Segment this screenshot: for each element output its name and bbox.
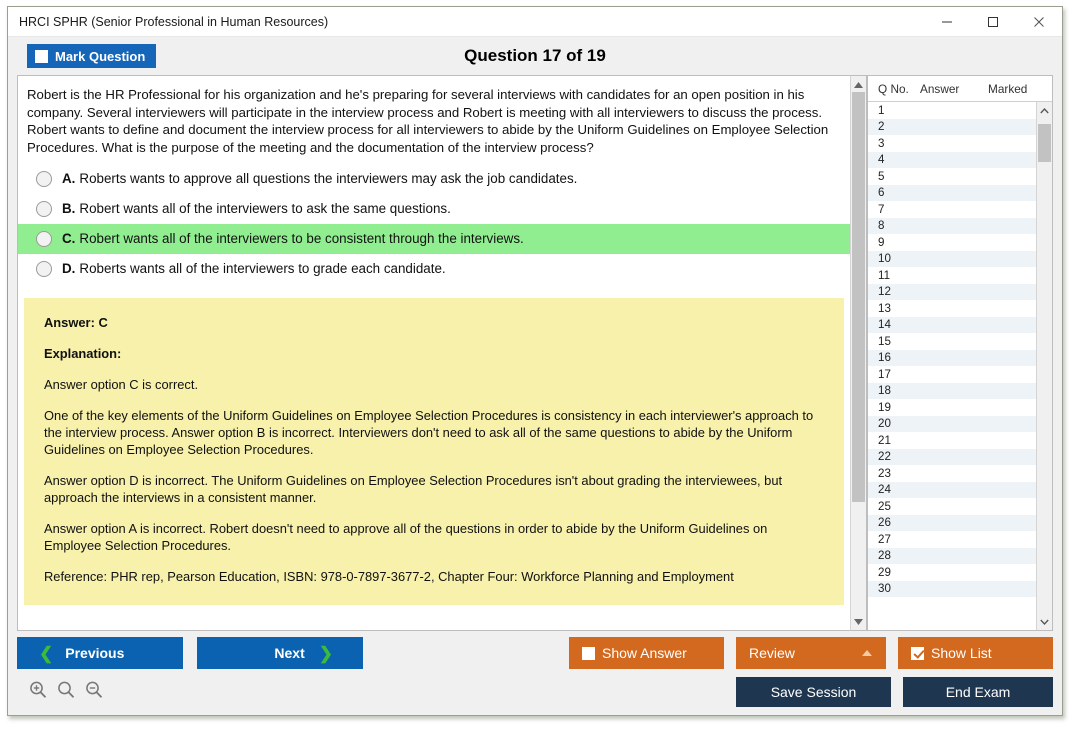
question-list-row-number: 3 [868, 137, 920, 150]
question-list-row-number: 13 [868, 302, 920, 315]
mark-question-button[interactable]: Mark Question [27, 44, 156, 68]
question-list-row[interactable]: 21 [868, 432, 1036, 449]
window-title: HRCI SPHR (Senior Professional in Human … [8, 15, 924, 29]
question-list-row-number: 2 [868, 120, 920, 133]
question-pane-scrollbar[interactable] [850, 75, 867, 631]
mark-question-checkbox-icon [35, 50, 48, 63]
question-list-row-number: 25 [868, 500, 920, 513]
list-scroll-up-button[interactable] [1037, 102, 1052, 119]
question-counter: Question 17 of 19 [8, 46, 1062, 66]
exam-header: Mark Question Question 17 of 19 [8, 37, 1062, 75]
question-list-row-number: 30 [868, 582, 920, 595]
question-list-row[interactable]: 23 [868, 465, 1036, 482]
question-list-row[interactable]: 22 [868, 449, 1036, 466]
exam-body: Robert is the HR Professional for his or… [8, 75, 1062, 631]
question-list-row[interactable]: 26 [868, 515, 1036, 532]
caret-down-icon [854, 619, 863, 625]
question-list-row-number: 19 [868, 401, 920, 414]
show-answer-checkbox-icon [582, 647, 595, 660]
question-text: Robert is the HR Professional for his or… [18, 76, 850, 160]
exam-footer: ❮ Previous Next ❯ Show Answer Review Sho… [8, 631, 1062, 715]
question-list-row[interactable]: 6 [868, 185, 1036, 202]
show-list-label: Show List [931, 645, 992, 661]
question-list-row-number: 1 [868, 104, 920, 117]
option-letter-b: B. [62, 200, 75, 218]
show-list-button[interactable]: Show List [898, 637, 1053, 669]
question-list-row-number: 6 [868, 186, 920, 199]
column-header-marked: Marked [988, 82, 1052, 96]
question-list-row-number: 8 [868, 219, 920, 232]
option-row-c[interactable]: C. Robert wants all of the interviewers … [18, 224, 850, 254]
question-list-row[interactable]: 5 [868, 168, 1036, 185]
maximize-button[interactable] [970, 7, 1016, 36]
question-list-rows: 1234567891011121314151617181920212223242… [868, 102, 1036, 630]
question-scroll-area: Robert is the HR Professional for his or… [18, 76, 850, 630]
explanation-reference: Reference: PHR rep, Pearson Education, I… [44, 568, 828, 585]
question-list-row[interactable]: 10 [868, 251, 1036, 268]
close-icon [1033, 16, 1045, 28]
close-button[interactable] [1016, 7, 1062, 36]
caret-up-icon [854, 82, 863, 88]
footer-secondary-row: Save Session End Exam [17, 677, 1053, 707]
answer-options: A. Roberts wants to approve all question… [18, 160, 850, 284]
question-list-row[interactable]: 8 [868, 218, 1036, 235]
radio-icon-d[interactable] [36, 261, 52, 277]
question-list-row-number: 20 [868, 417, 920, 430]
explanation-panel: Answer: C Explanation: Answer option C i… [24, 298, 844, 605]
question-list-row[interactable]: 12 [868, 284, 1036, 301]
question-list-row[interactable]: 7 [868, 201, 1036, 218]
end-exam-button[interactable]: End Exam [903, 677, 1053, 707]
show-list-checkbox-icon [911, 647, 924, 660]
answer-label: Answer: C [44, 314, 828, 331]
question-list-row[interactable]: 14 [868, 317, 1036, 334]
minimize-button[interactable] [924, 7, 970, 36]
save-session-button[interactable]: Save Session [736, 677, 891, 707]
option-letter-c: C. [62, 230, 75, 248]
question-list-row[interactable]: 13 [868, 300, 1036, 317]
explanation-paragraph-4: Answer option A is incorrect. Robert doe… [44, 520, 828, 554]
question-list-row[interactable]: 30 [868, 581, 1036, 598]
zoom-in-icon[interactable] [28, 680, 48, 705]
next-label: Next [274, 645, 304, 661]
explanation-paragraph-2: One of the key elements of the Uniform G… [44, 407, 828, 458]
option-text-a: Roberts wants to approve all questions t… [79, 170, 577, 188]
question-list-row-number: 14 [868, 318, 920, 331]
question-list-row-number: 4 [868, 153, 920, 166]
previous-button[interactable]: ❮ Previous [17, 637, 183, 669]
chevron-right-icon: ❯ [319, 645, 333, 662]
question-list-row-number: 24 [868, 483, 920, 496]
question-list-row-number: 18 [868, 384, 920, 397]
mark-question-label: Mark Question [55, 49, 145, 64]
question-list-scrollbar[interactable] [1036, 102, 1052, 630]
exam-window: HRCI SPHR (Senior Professional in Human … [7, 6, 1063, 716]
question-list-row-number: 29 [868, 566, 920, 579]
zoom-reset-icon[interactable] [56, 680, 76, 705]
question-list-row[interactable]: 25 [868, 498, 1036, 515]
question-list-body: 1234567891011121314151617181920212223242… [868, 101, 1052, 630]
question-list-row-number: 17 [868, 368, 920, 381]
column-header-q-no: Q No. [868, 82, 920, 96]
minimize-icon [941, 16, 953, 28]
question-list-row[interactable]: 29 [868, 564, 1036, 581]
question-list-row-number: 5 [868, 170, 920, 183]
question-list-row-number: 16 [868, 351, 920, 364]
option-row-b[interactable]: B. Robert wants all of the interviewers … [18, 194, 850, 224]
explanation-paragraph-1: Answer option C is correct. [44, 376, 828, 393]
question-list-row[interactable]: 3 [868, 135, 1036, 152]
question-list-row[interactable]: 16 [868, 350, 1036, 367]
save-session-label: Save Session [771, 684, 857, 700]
question-list-row[interactable]: 20 [868, 416, 1036, 433]
question-list-row-number: 12 [868, 285, 920, 298]
radio-icon-c[interactable] [36, 231, 52, 247]
question-list-row-number: 22 [868, 450, 920, 463]
maximize-icon [987, 16, 999, 28]
chevron-left-icon: ❮ [39, 645, 53, 662]
footer-primary-row: ❮ Previous Next ❯ Show Answer Review Sho… [17, 637, 1053, 669]
explanation-paragraph-3: Answer option D is incorrect. The Unifor… [44, 472, 828, 506]
option-text-c: Robert wants all of the interviewers to … [79, 230, 523, 248]
radio-icon-b[interactable] [36, 201, 52, 217]
question-list-row-number: 28 [868, 549, 920, 562]
scroll-down-button[interactable] [851, 613, 866, 630]
previous-label: Previous [65, 645, 124, 661]
question-list-row-number: 11 [868, 269, 920, 282]
list-scroll-down-button[interactable] [1037, 613, 1052, 630]
question-list-row-number: 7 [868, 203, 920, 216]
title-bar: HRCI SPHR (Senior Professional in Human … [8, 7, 1062, 37]
question-pane: Robert is the HR Professional for his or… [17, 75, 850, 631]
chevron-up-icon [862, 650, 872, 656]
question-list-row[interactable]: 18 [868, 383, 1036, 400]
question-list-row[interactable]: 2 [868, 119, 1036, 136]
question-list-row-number: 9 [868, 236, 920, 249]
question-list-row[interactable]: 27 [868, 531, 1036, 548]
question-list-row[interactable]: 11 [868, 267, 1036, 284]
option-row-d[interactable]: D. Roberts wants all of the interviewers… [18, 254, 850, 284]
question-list-row-number: 26 [868, 516, 920, 529]
question-list-row[interactable]: 1 [868, 102, 1036, 119]
question-list-scroll-thumb[interactable] [1038, 124, 1051, 162]
caret-down-icon [1040, 619, 1049, 625]
question-list-row-number: 23 [868, 467, 920, 480]
question-pane-scroll-thumb[interactable] [852, 92, 865, 502]
review-dropdown-button[interactable]: Review [736, 637, 886, 669]
caret-up-icon [1040, 108, 1049, 114]
question-list-row[interactable]: 19 [868, 399, 1036, 416]
question-list-row-number: 21 [868, 434, 920, 447]
scroll-up-button[interactable] [851, 76, 866, 93]
question-list-row-number: 15 [868, 335, 920, 348]
radio-icon-a[interactable] [36, 171, 52, 187]
question-list-row-number: 10 [868, 252, 920, 265]
question-list-row-number: 27 [868, 533, 920, 546]
column-header-answer: Answer [920, 82, 988, 96]
question-list-row[interactable]: 15 [868, 333, 1036, 350]
question-list-panel: Q No. Answer Marked 12345678910111213141… [867, 75, 1053, 631]
end-exam-label: End Exam [946, 684, 1011, 700]
show-answer-label: Show Answer [602, 645, 687, 661]
question-list-header: Q No. Answer Marked [868, 76, 1052, 101]
option-text-d: Roberts wants all of the interviewers to… [79, 260, 445, 278]
question-list-row[interactable]: 28 [868, 548, 1036, 565]
show-answer-button[interactable]: Show Answer [569, 637, 724, 669]
option-letter-a: A. [62, 170, 75, 188]
question-list-row[interactable]: 17 [868, 366, 1036, 383]
option-row-a[interactable]: A. Roberts wants to approve all question… [18, 164, 850, 194]
zoom-controls [17, 680, 104, 705]
zoom-out-icon[interactable] [84, 680, 104, 705]
option-letter-d: D. [62, 260, 75, 278]
question-list-row[interactable]: 9 [868, 234, 1036, 251]
review-label: Review [749, 645, 795, 661]
explanation-label: Explanation: [44, 345, 828, 362]
option-text-b: Robert wants all of the interviewers to … [79, 200, 450, 218]
question-list-row[interactable]: 24 [868, 482, 1036, 499]
next-button[interactable]: Next ❯ [197, 637, 363, 669]
question-list-row[interactable]: 4 [868, 152, 1036, 169]
